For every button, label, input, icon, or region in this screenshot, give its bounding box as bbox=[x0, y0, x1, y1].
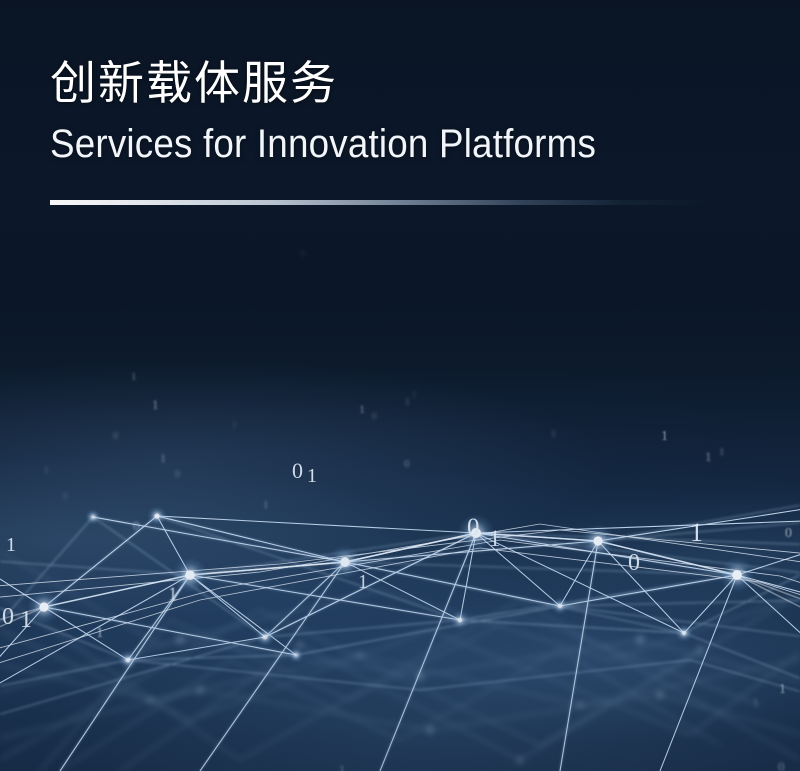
page-title-chinese: 创新载体服务 bbox=[50, 56, 644, 110]
banner-header: 创新载体服务 Services for Innovation Platforms bbox=[50, 56, 644, 168]
page-subtitle-english: Services for Innovation Platforms bbox=[50, 120, 596, 168]
title-divider bbox=[50, 200, 710, 205]
innovation-platform-banner: 1101011001101001010111111011101110101 创新… bbox=[0, 0, 800, 771]
